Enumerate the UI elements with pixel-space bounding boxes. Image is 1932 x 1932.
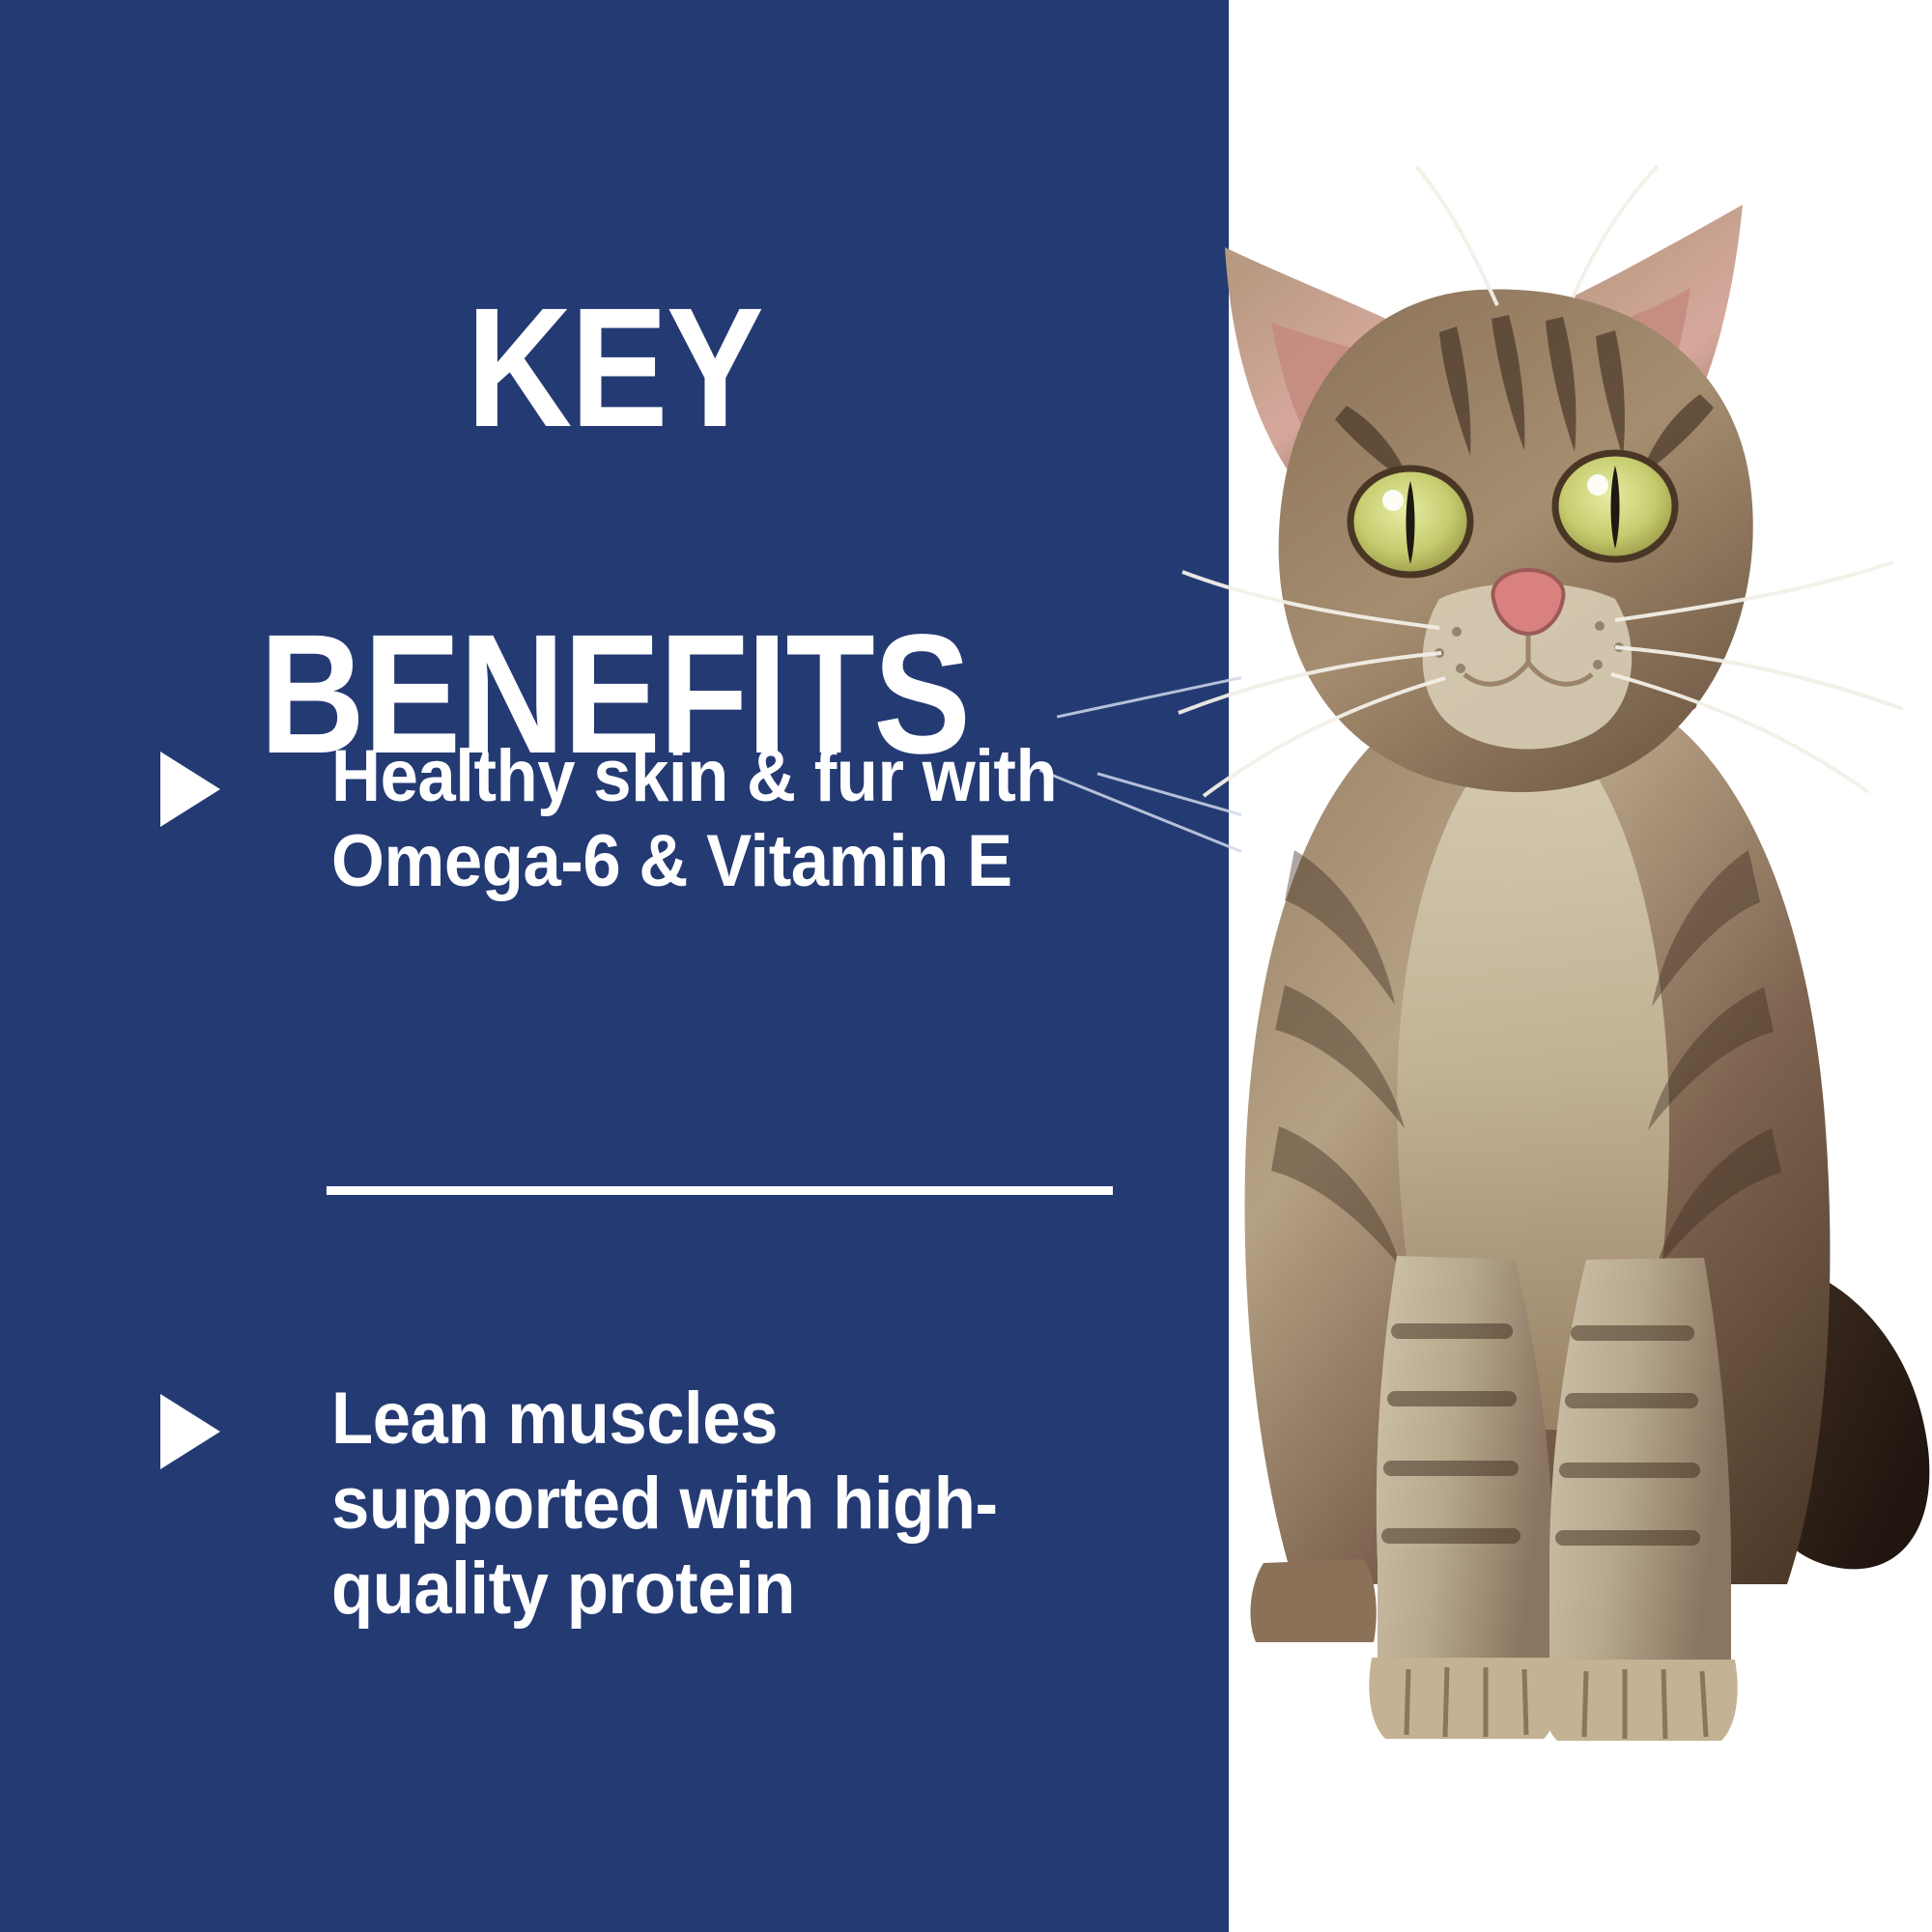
play-triangle-icon [160, 752, 220, 827]
benefit-item-2-label: Lean muscles supported with high-quality… [331, 1377, 1124, 1632]
benefit-item-1-label: Healthy skin & fur with Omega-6 & Vitami… [331, 734, 1124, 904]
benefit-divider [327, 1186, 1113, 1195]
cat-paws [1369, 1658, 1737, 1741]
cat-illustration [1179, 166, 1929, 1741]
play-triangle-icon [160, 1394, 220, 1469]
cat-front-leg-left [1377, 1256, 1553, 1702]
cat-eye-left [1350, 469, 1470, 575]
cat-rear-paw [1250, 1559, 1376, 1642]
benefit-item-1: Healthy skin & fur with Omega-6 & Vitami… [160, 734, 1184, 904]
page-title-line-1: KEY [86, 287, 1143, 450]
cat-photo [1150, 116, 1932, 1855]
benefit-item-2: Lean muscles supported with high-quality… [160, 1377, 1184, 1632]
cat-eye-right [1555, 453, 1675, 559]
cat-front-leg-right [1549, 1258, 1731, 1704]
key-benefits-panel-graphic: KEY BENEFITS Healthy skin & fur with Ome… [0, 0, 1932, 1932]
